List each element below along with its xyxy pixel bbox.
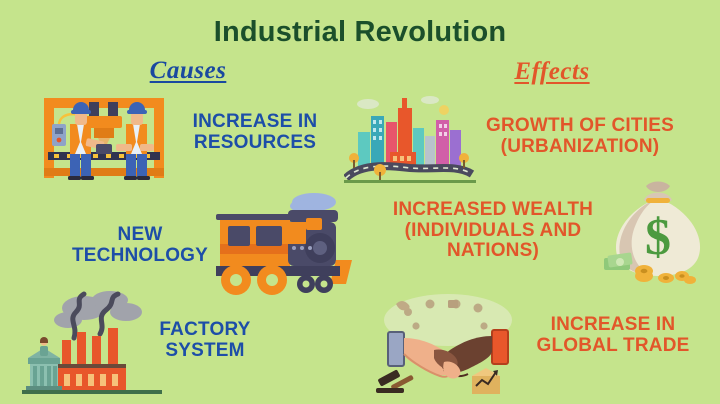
label-line: FACTORY <box>130 320 280 341</box>
money-bag-dollar-illustration: $ <box>602 176 714 288</box>
effect-label-increased-wealth: INCREASED WEALTH (INDIVIDUALS AND NATION… <box>376 200 610 262</box>
label-line: SYSTEM <box>130 341 280 362</box>
causes-heading: Causes <box>118 57 258 85</box>
label-line: INCREASE IN <box>520 315 706 336</box>
effects-heading: Effects <box>482 58 622 86</box>
factory-workers-conveyor-illustration <box>34 86 174 190</box>
cause-label-new-technology: NEW TECHNOLOGY <box>60 225 220 266</box>
effect-label-growth-of-cities: GROWTH OF CITIES (URBANIZATION) <box>476 116 684 157</box>
label-line: (URBANIZATION) <box>476 137 684 158</box>
steam-locomotive-illustration <box>202 188 360 300</box>
svg-text:$: $ <box>645 209 671 266</box>
handshake-trade-illustration <box>372 288 524 398</box>
label-line: (INDIVIDUALS AND <box>376 221 610 242</box>
label-line: RESOURCES <box>172 133 338 154</box>
label-line: GLOBAL TRADE <box>520 336 706 357</box>
poster-canvas: Industrial Revolution Causes Effects <box>0 0 720 404</box>
label-line: INCREASE IN <box>172 112 338 133</box>
label-line: GROWTH OF CITIES <box>476 116 684 137</box>
label-line: NATIONS) <box>376 241 610 262</box>
cause-label-increase-in-resources: INCREASE IN RESOURCES <box>172 112 338 153</box>
city-skyline-illustration <box>344 92 476 184</box>
page-title: Industrial Revolution <box>0 16 720 49</box>
cause-label-factory-system: FACTORY SYSTEM <box>130 320 280 361</box>
effect-label-increase-in-global-trade: INCREASE IN GLOBAL TRADE <box>520 315 706 356</box>
label-line: TECHNOLOGY <box>60 246 220 267</box>
label-line: NEW <box>60 225 220 246</box>
label-line: INCREASED WEALTH <box>376 200 610 221</box>
